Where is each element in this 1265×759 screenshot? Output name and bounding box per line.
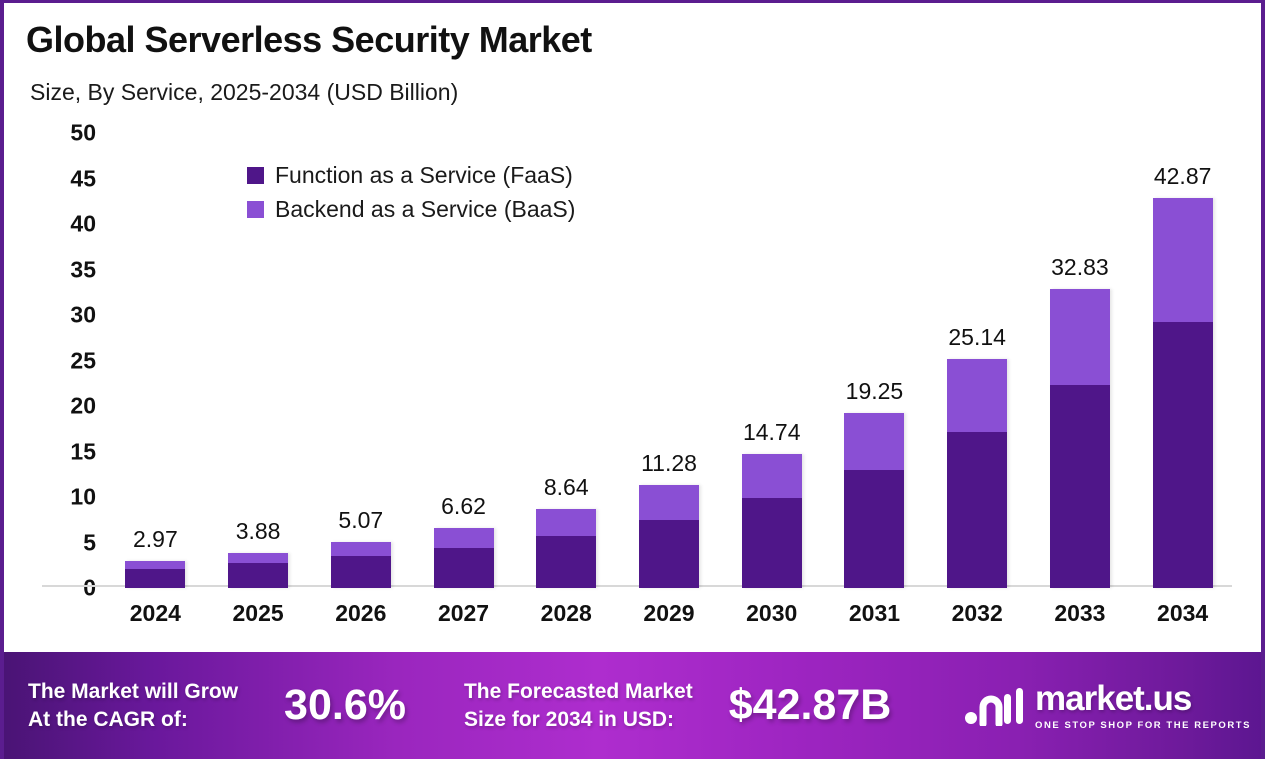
footer-bar: The Market will Grow At the CAGR of: 30.… [4,652,1265,759]
bar-segment-baas[interactable] [742,454,802,498]
page-title: Global Serverless Security Market [26,19,592,61]
forecast-caption: The Forecasted Market Size for 2034 in U… [464,678,693,733]
market-us-logo-icon [964,686,1026,726]
chart-subtitle: Size, By Service, 2025-2034 (USD Billion… [30,79,458,106]
bar-group[interactable]: 14.74 [742,133,802,588]
bar-segment-faas[interactable] [844,470,904,588]
bar-group[interactable]: 42.87 [1153,133,1213,588]
bar-group[interactable]: 8.64 [536,133,596,588]
bar-stack[interactable] [1153,198,1213,588]
bar-group[interactable]: 32.83 [1050,133,1110,588]
cagr-value: 30.6% [284,681,406,730]
bar-stack[interactable] [844,413,904,588]
bar-stack[interactable] [639,485,699,588]
cagr-caption: The Market will Grow At the CAGR of: [28,678,238,733]
y-axis-tick: 40 [70,211,96,238]
bar-value-label: 8.64 [466,474,666,501]
y-axis-tick: 15 [70,438,96,465]
bar-segment-baas[interactable] [228,553,288,563]
cagr-caption-line1: The Market will Grow [28,678,238,706]
bar-stack[interactable] [228,553,288,588]
bar-group[interactable]: 19.25 [844,133,904,588]
bar-segment-baas[interactable] [1050,289,1110,385]
bar-value-label: 25.14 [877,324,1077,351]
bar-segment-baas[interactable] [639,485,699,519]
bar-segment-baas[interactable] [331,542,391,556]
forecast-caption-line1: The Forecasted Market [464,678,693,706]
y-axis-tick: 0 [83,575,96,602]
y-axis-tick: 30 [70,302,96,329]
y-axis-tick: 50 [70,120,96,147]
bar-segment-faas[interactable] [1050,385,1110,588]
logo-wordmark: market.us [1035,681,1191,716]
logo-text: market.us ONE STOP SHOP FOR THE REPORTS [1035,681,1251,731]
plot-area: 2.973.885.076.628.6411.2814.7419.2525.14… [104,133,1234,588]
chart-page: Global Serverless Security Market Size, … [0,0,1265,759]
bar-group[interactable]: 11.28 [639,133,699,588]
bar-segment-baas[interactable] [125,561,185,569]
bar-stack[interactable] [331,542,391,588]
y-axis-tick: 35 [70,256,96,283]
forecast-caption-line2: Size for 2034 in USD: [464,706,693,734]
cagr-caption-line2: At the CAGR of: [28,706,238,734]
bar-segment-baas[interactable] [947,359,1007,432]
bar-segment-faas[interactable] [742,498,802,588]
x-axis-label: 2034 [1103,600,1263,627]
bar-value-label: 19.25 [774,378,974,405]
forecast-value: $42.87B [729,681,892,730]
bar-segment-faas[interactable] [947,432,1007,588]
bar-group[interactable]: 25.14 [947,133,1007,588]
bar-segment-faas[interactable] [331,556,391,588]
bar-segment-faas[interactable] [1153,322,1213,588]
bar-segment-baas[interactable] [844,413,904,470]
market-us-logo[interactable]: market.us ONE STOP SHOP FOR THE REPORTS [964,681,1251,731]
bar-stack[interactable] [434,528,494,588]
bar-stack[interactable] [1050,289,1110,588]
y-axis-tick: 20 [70,393,96,420]
bar-value-label: 42.87 [1083,163,1265,190]
bar-stack[interactable] [125,561,185,588]
cagr-block: The Market will Grow At the CAGR of: 30.… [28,678,406,733]
bar-value-label: 11.28 [569,450,769,477]
y-axis: 50454035302520151050 [30,133,96,588]
bar-segment-baas[interactable] [1153,198,1213,322]
y-axis-tick: 25 [70,347,96,374]
bar-segment-faas[interactable] [125,569,185,588]
bar-value-label: 14.74 [672,419,872,446]
forecast-block: The Forecasted Market Size for 2034 in U… [464,678,891,733]
bar-group[interactable]: 6.62 [434,133,494,588]
bar-segment-faas[interactable] [434,548,494,588]
bar-stack[interactable] [536,509,596,588]
bar-stack[interactable] [947,359,1007,588]
bar-value-label: 32.83 [980,254,1180,281]
logo-tagline: ONE STOP SHOP FOR THE REPORTS [1035,720,1251,731]
bar-stack[interactable] [742,454,802,588]
bar-segment-faas[interactable] [228,563,288,588]
bar-segment-faas[interactable] [639,520,699,588]
y-axis-tick: 45 [70,165,96,192]
y-axis-tick: 10 [70,484,96,511]
bar-segment-baas[interactable] [434,528,494,548]
bar-segment-baas[interactable] [536,509,596,535]
bar-segment-faas[interactable] [536,536,596,588]
